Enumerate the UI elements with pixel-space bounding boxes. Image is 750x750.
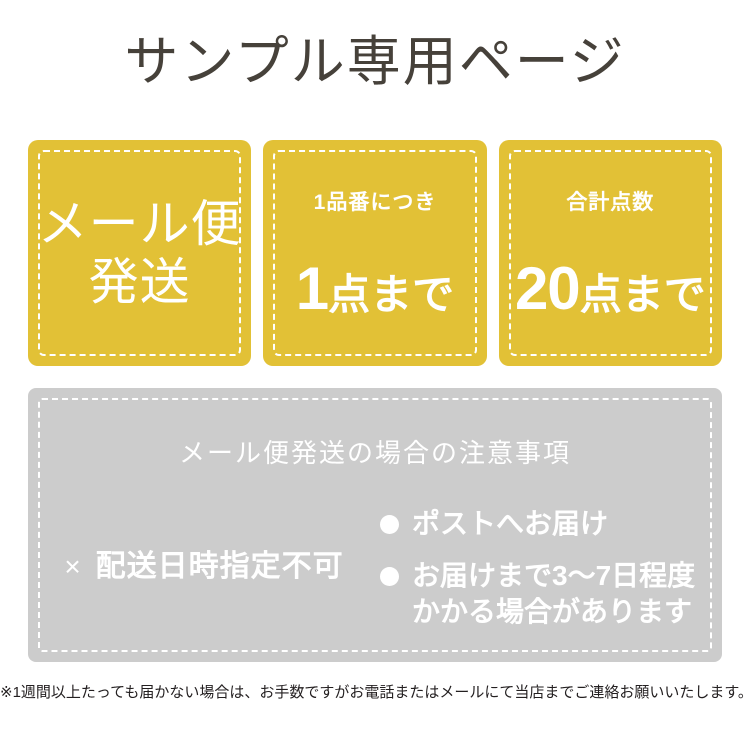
notice-panel: メール便発送の場合の注意事項 × 配送日時指定不可 ポストへお届け (28, 388, 722, 662)
notice-title: メール便発送の場合の注意事項 (28, 436, 722, 470)
notice-points: ポストへお届け お届けまで3〜7日程度 かかる場合があります (380, 498, 722, 630)
per-item-limit-caption: 1品番につき (263, 190, 486, 216)
notice-point-line1: お届けまで3〜7日程度 (412, 560, 695, 591)
total-limit-caption: 合計点数 (499, 190, 722, 216)
feature-box-total-limit: 合計点数 20点まで (499, 140, 722, 366)
mail-shipping-line1: メール便 (28, 195, 251, 253)
mail-shipping-line2: 発送 (28, 253, 251, 311)
page-title: サンプル専用ページ (0, 28, 750, 96)
feature-box-mail-shipping: メール便 発送 (28, 140, 251, 366)
total-limit-value: 20点まで (499, 258, 722, 326)
notice-point-text: ポストへお届け (412, 506, 608, 542)
per-item-limit-value: 1点まで (263, 258, 486, 326)
restriction-item: × 配送日時指定不可 (64, 548, 343, 586)
notice-point-line2: かかる場合があります (412, 594, 695, 630)
per-item-limit-unit: 点まで (328, 271, 454, 318)
notice-point: ポストへお届け (380, 506, 722, 542)
cross-icon: × (64, 548, 81, 586)
bullet-dot-icon (380, 567, 399, 586)
bullet-dot-icon (380, 515, 399, 534)
feature-content: 1品番につき 1点まで (263, 180, 486, 326)
footer-note: ※1週間以上たっても届かない場合は、お手数ですがお電話またはメールにて当店までご… (0, 682, 750, 704)
sample-page: サンプル専用ページ メール便 発送 1品番につき 1点まで 合計点数 (0, 0, 750, 750)
notice-restriction: × 配送日時指定不可 (28, 498, 380, 648)
feature-box-row: メール便 発送 1品番につき 1点まで 合計点数 20点まで (28, 140, 722, 366)
restriction-label: 配送日時指定不可 (96, 548, 344, 586)
notice-point-line1: ポストへお届け (412, 508, 608, 539)
per-item-limit-number: 1 (296, 255, 328, 322)
feature-content: 合計点数 20点まで (499, 180, 722, 326)
total-limit-unit: 点まで (580, 271, 706, 318)
feature-box-per-item-limit: 1品番につき 1点まで (263, 140, 486, 366)
total-limit-number: 20 (515, 255, 580, 322)
notice-body: × 配送日時指定不可 ポストへお届け お届けまで3〜7日程度 かかる場合がありま… (28, 498, 722, 648)
feature-content: メール便 発送 (28, 195, 251, 311)
notice-point: お届けまで3〜7日程度 かかる場合があります (380, 558, 722, 630)
notice-point-text: お届けまで3〜7日程度 かかる場合があります (412, 558, 695, 630)
